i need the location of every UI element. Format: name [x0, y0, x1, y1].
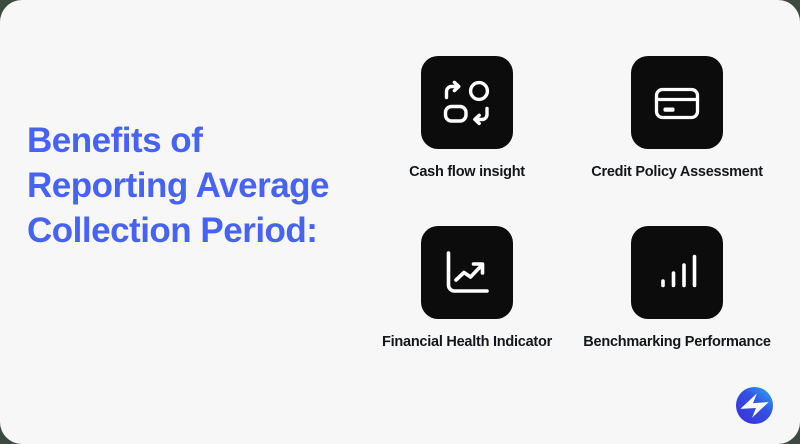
benefits-grid: Cash flow insight Credit Policy Assessme…	[362, 56, 782, 368]
page-title-line-2: Reporting Average	[27, 163, 357, 208]
benefit-item-benchmarking-performance[interactable]: Benchmarking Performance	[572, 212, 782, 368]
page-title-line-1: Benefits of	[27, 118, 357, 163]
benefit-item-cash-flow-insight[interactable]: Cash flow insight	[362, 56, 572, 212]
exchange-arrows-icon	[441, 77, 493, 129]
benefit-icon-tile	[421, 56, 513, 149]
bar-chart-icon	[651, 247, 703, 299]
slide-canvas: Benefits of Reporting Average Collection…	[0, 0, 800, 444]
benefit-item-financial-health-indicator[interactable]: Financial Health Indicator	[362, 212, 572, 368]
line-chart-up-icon	[441, 247, 493, 299]
benefit-label: Cash flow insight	[409, 164, 525, 180]
credit-card-icon	[651, 77, 703, 129]
benefit-label: Financial Health Indicator	[382, 334, 552, 350]
benefit-icon-tile	[421, 226, 513, 319]
brand-logo	[735, 386, 774, 425]
page-title-line-3: Collection Period:	[27, 208, 357, 253]
page-title: Benefits of Reporting Average Collection…	[27, 118, 357, 253]
benefit-label: Credit Policy Assessment	[591, 164, 763, 180]
benefit-icon-tile	[631, 56, 723, 149]
benefit-label: Benchmarking Performance	[583, 334, 770, 350]
benefit-icon-tile	[631, 226, 723, 319]
benefit-item-credit-policy-assessment[interactable]: Credit Policy Assessment	[572, 56, 782, 212]
